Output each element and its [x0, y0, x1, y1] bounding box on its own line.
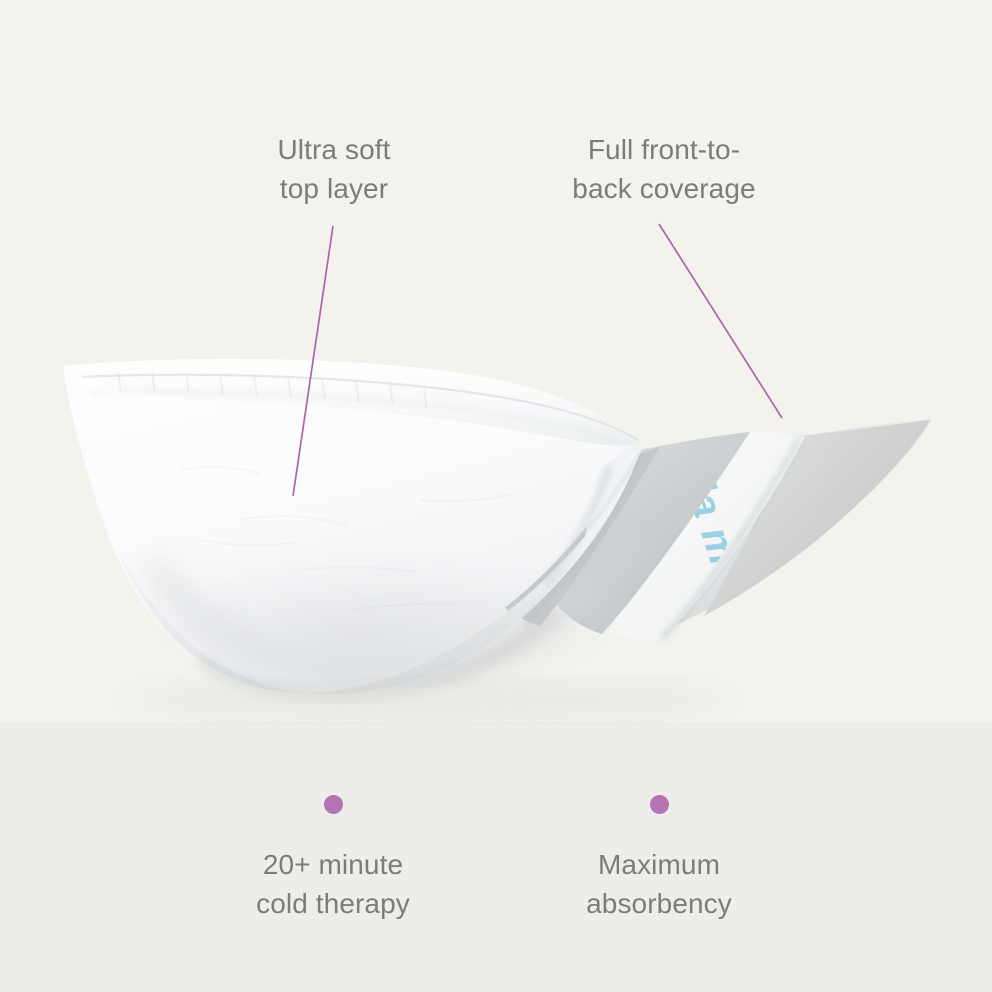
product-drop-shadow [130, 680, 730, 720]
feature-label-cold-therapy: 20+ minute cold therapy [183, 846, 483, 923]
feature-dot-icon [324, 795, 343, 814]
product-image: frida mom [0, 0, 992, 992]
feature-cold-therapy: 20+ minute cold therapy [183, 795, 483, 923]
feature-dot-icon [650, 795, 669, 814]
callout-ultra-soft-top-layer: Ultra soft top layer [203, 131, 465, 208]
feature-label-maximum-absorbency: Maximum absorbency [509, 846, 809, 923]
feature-maximum-absorbency: Maximum absorbency [509, 795, 809, 923]
callout-full-front-to-back-coverage: Full front-to- back coverage [533, 131, 795, 208]
product-top-layer-group [63, 359, 650, 695]
product-infographic: frida mom [0, 0, 992, 992]
